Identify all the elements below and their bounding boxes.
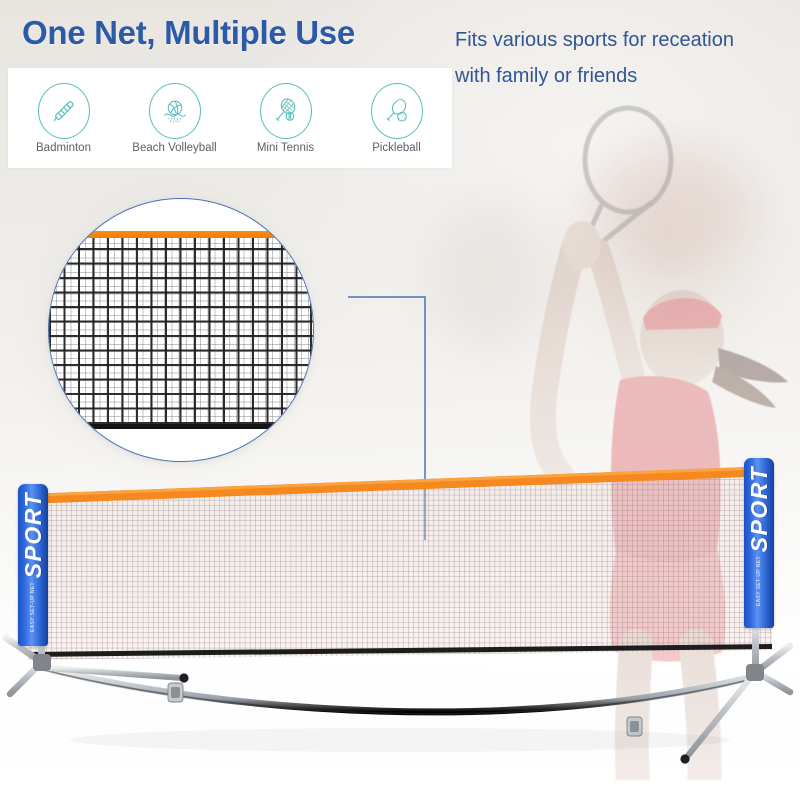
post-right-brand: SPORT	[746, 466, 773, 552]
foot-joint-left	[6, 638, 189, 694]
net-frame	[0, 440, 800, 800]
post-left-tagline: EASY SET-UP NET	[30, 582, 36, 632]
pole-connector-left	[168, 683, 183, 702]
post-right-tagline: EASY SET-UP NET	[756, 556, 762, 606]
portable-net-product: SPORT EASY SET-UP NET SPORT EASY SET-UP …	[0, 440, 800, 800]
product-marketing-image: One Net, Multiple Use Fits various sport…	[0, 0, 800, 800]
post-left-brand: SPORT	[20, 492, 47, 578]
foot-joint-right	[680, 646, 790, 764]
floor-shadow	[70, 728, 730, 752]
net-post-right: SPORT EASY SET-UP NET	[744, 458, 774, 628]
net-post-left: SPORT EASY SET-UP NET	[18, 484, 48, 646]
